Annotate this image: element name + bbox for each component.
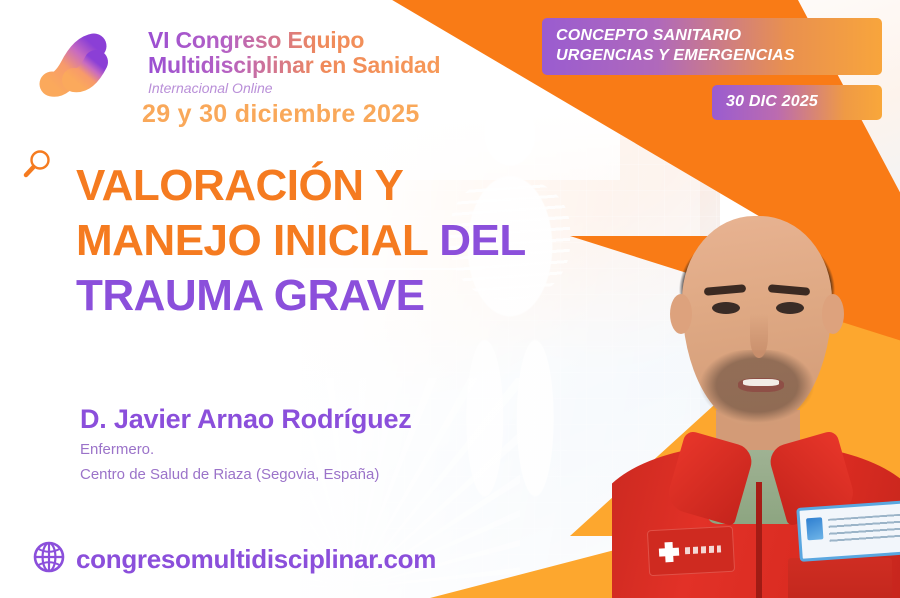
session-title-part1: VALORACIÓN Y [76, 161, 403, 210]
id-badge [796, 500, 900, 562]
badge-group: CONCEPTO SANITARIO URGENCIAS Y EMERGENCI… [542, 18, 882, 120]
session-date-badge: 30 DIC 2025 [712, 85, 882, 120]
jacket-zipper [756, 482, 762, 598]
magnifier-icon [20, 148, 54, 182]
event-title-line1: VI Congreso Equipo [148, 28, 448, 53]
ear-left [670, 294, 692, 334]
presentation-slide: VI Congreso Equipo Multidisciplinar en S… [0, 0, 900, 598]
speaker-block: D. Javier Arnao Rodríguez Enfermero. Cen… [80, 404, 412, 485]
eye-right [776, 302, 804, 314]
globe-icon [32, 540, 66, 579]
jacket-pocket [788, 558, 892, 598]
speaker-affiliation: Centro de Salud de Riaza (Segovia, Españ… [80, 464, 412, 485]
topic-badge-line1: CONCEPTO SANITARIO [556, 26, 868, 46]
website-url[interactable]: congresomultidisciplinar.com [76, 544, 436, 575]
session-title-part4: TRAUMA GRAVE [76, 271, 424, 320]
session-title-part3: DEL [439, 216, 526, 265]
session-title-line1: VALORACIÓN Y [76, 158, 636, 213]
event-title: VI Congreso Equipo Multidisciplinar en S… [148, 28, 448, 97]
session-title: VALORACIÓN Y MANEJO INICIAL DEL TRAUMA G… [76, 158, 636, 323]
speaker-name: D. Javier Arnao Rodríguez [80, 404, 412, 435]
topic-badge: CONCEPTO SANITARIO URGENCIAS Y EMERGENCI… [542, 18, 882, 75]
nose [750, 314, 768, 358]
medical-cross-patch-icon [647, 526, 735, 576]
congress-logo-icon [28, 22, 144, 102]
session-title-line2: MANEJO INICIAL DEL [76, 213, 636, 268]
speaker-photo [612, 182, 900, 598]
eye-left [712, 302, 740, 314]
event-subtitle: Internacional Online [148, 79, 448, 97]
event-title-line2: Multidisciplinar en Sanidad [148, 53, 448, 78]
footer-website[interactable]: congresomultidisciplinar.com [32, 540, 436, 579]
ear-right [822, 294, 844, 334]
beard [690, 350, 824, 438]
topic-badge-line2: URGENCIAS Y EMERGENCIAS [556, 46, 868, 66]
session-title-line3: TRAUMA GRAVE [76, 268, 636, 323]
session-title-part2: MANEJO INICIAL [76, 216, 439, 265]
teeth [743, 379, 779, 386]
event-date: 29 y 30 diciembre 2025 [142, 100, 420, 129]
speaker-role: Enfermero. [80, 439, 412, 460]
